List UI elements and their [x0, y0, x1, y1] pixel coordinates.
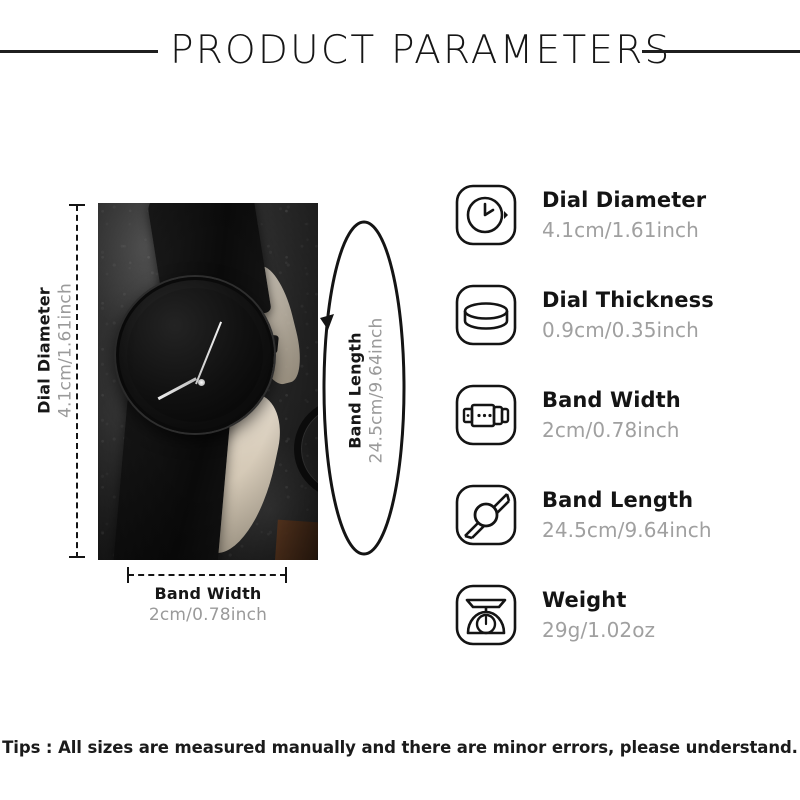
- dial-diameter-cap-bottom: [69, 556, 85, 558]
- band-length-callout-text: Band Length 24.5cm/9.64inch: [346, 251, 387, 531]
- band-width-callout: Band Width 2cm/0.78inch: [88, 584, 328, 625]
- spec-row-weight: Weight 29g/1.02oz: [452, 565, 792, 665]
- band-length-callout-label: Band Length: [346, 251, 365, 531]
- product-photo-panel: Dial Diameter 4.1cm/1.61inch Band Length: [0, 150, 430, 670]
- title-rule-left: [0, 50, 158, 53]
- footer-tip-text: Tips : All sizes are measured manually a…: [0, 738, 800, 757]
- spec-label-band-length: Band Length: [542, 487, 712, 513]
- watch-strap-diagonal-icon: [452, 481, 520, 549]
- spec-text-dial-thickness: Dial Thickness 0.9cm/0.35inch: [542, 287, 714, 342]
- spec-row-band-width: Band Width 2cm/0.78inch: [452, 365, 792, 465]
- spec-label-weight: Weight: [542, 587, 655, 613]
- specification-list: Dial Diameter 4.1cm/1.61inch Dial Thickn…: [452, 165, 792, 665]
- spec-text-dial-diameter: Dial Diameter 4.1cm/1.61inch: [542, 187, 706, 242]
- watch-dial-icon: [452, 181, 520, 249]
- dial-diameter-measure-line: [76, 205, 78, 558]
- photo-vignette: [98, 203, 318, 560]
- band-length-callout: Band Length 24.5cm/9.64inch: [316, 218, 412, 558]
- dial-diameter-callout-value: 4.1cm/1.61inch: [56, 201, 76, 501]
- disc-thickness-icon: [452, 281, 520, 349]
- band-width-measure-line: [128, 574, 286, 576]
- spec-label-band-width: Band Width: [542, 387, 681, 413]
- spec-row-band-length: Band Length 24.5cm/9.64inch: [452, 465, 792, 565]
- strap-buckle-icon: [452, 381, 520, 449]
- dial-diameter-callout: Dial Diameter 4.1cm/1.61inch: [35, 201, 76, 501]
- spec-label-dial-thickness: Dial Thickness: [542, 287, 714, 313]
- page-header: PRODUCT PARAMETERS: [0, 22, 800, 82]
- band-length-callout-value: 24.5cm/9.64inch: [367, 251, 387, 531]
- band-width-cap-left: [127, 567, 129, 583]
- spec-label-dial-diameter: Dial Diameter: [542, 187, 706, 213]
- spec-value-weight: 29g/1.02oz: [542, 617, 655, 643]
- dial-diameter-callout-label: Dial Diameter: [35, 201, 54, 501]
- band-width-callout-value: 2cm/0.78inch: [88, 605, 328, 625]
- band-width-callout-label: Band Width: [88, 584, 328, 603]
- band-width-cap-right: [285, 567, 287, 583]
- spec-value-dial-diameter: 4.1cm/1.61inch: [542, 217, 706, 243]
- spec-value-band-length: 24.5cm/9.64inch: [542, 517, 712, 543]
- spec-row-dial-diameter: Dial Diameter 4.1cm/1.61inch: [452, 165, 792, 265]
- spec-text-band-width: Band Width 2cm/0.78inch: [542, 387, 681, 442]
- spec-value-dial-thickness: 0.9cm/0.35inch: [542, 317, 714, 343]
- product-photo-image: [98, 203, 318, 560]
- spec-text-weight: Weight 29g/1.02oz: [542, 587, 655, 642]
- title-rule-right: [642, 50, 800, 53]
- spec-row-dial-thickness: Dial Thickness 0.9cm/0.35inch: [452, 265, 792, 365]
- page-title: PRODUCT PARAMETERS: [170, 22, 630, 80]
- kitchen-scale-icon: [452, 581, 520, 649]
- spec-value-band-width: 2cm/0.78inch: [542, 417, 681, 443]
- spec-text-band-length: Band Length 24.5cm/9.64inch: [542, 487, 712, 542]
